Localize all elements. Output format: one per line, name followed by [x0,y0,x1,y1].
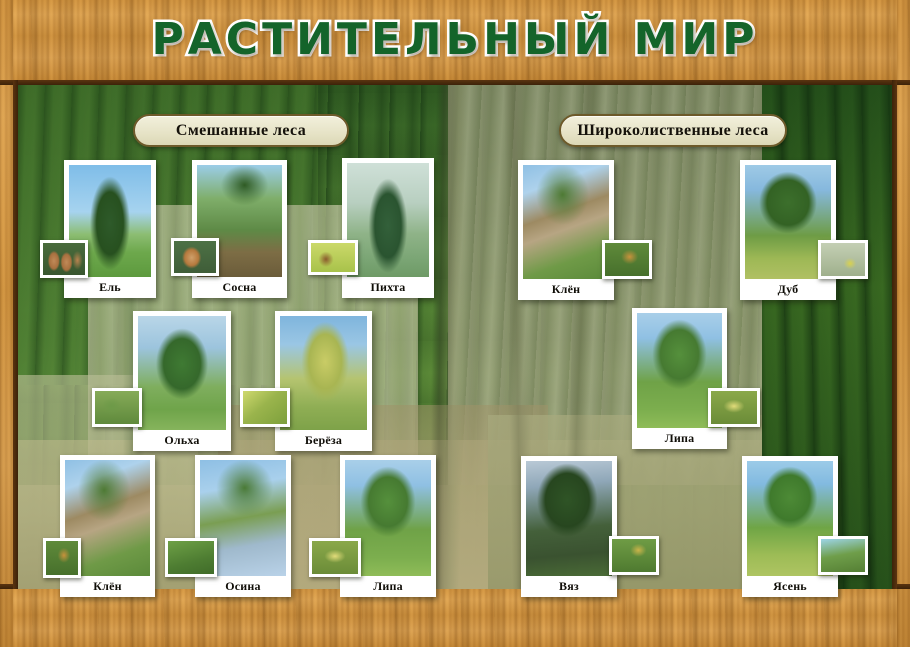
wood-frame-right [897,0,910,647]
leaf-icon [95,391,139,424]
tree-photo-olha [138,316,226,430]
tree-card-osina-label: Осина [200,576,286,597]
section-header-mixed-forest-label: Смешанные леса [176,122,306,140]
frame-edge-right [892,80,897,589]
leaf-icon [243,391,287,424]
detail-inset-yasen-leaf[interactable] [818,536,868,575]
cone-icon [174,241,216,273]
tree-card-olha[interactable]: Ольха [133,311,231,451]
tree-card-sosna[interactable]: Сосна [192,160,287,298]
cone-icon [311,243,355,272]
leaf-icon [821,539,865,572]
leaf-icon [821,243,865,276]
tree-card-klen-broad[interactable]: Клён [518,160,614,300]
section-header-broadleaf-forest: Широколиственные леса [559,114,787,147]
cone-icon [43,243,85,275]
detail-inset-lipa-mixed-leaf[interactable] [309,538,361,577]
tree-card-dub-label: Дуб [745,279,831,300]
leaf-icon [312,541,358,574]
tree-photo-vyaz [526,461,612,576]
page-title: РАСТИТЕЛЬНЫЙ МИР [0,8,910,72]
leaf-icon [605,243,649,276]
detail-inset-bereza-leaf[interactable] [240,388,290,427]
detail-inset-klen-broad-leaf[interactable] [602,240,652,279]
detail-inset-el-cones[interactable] [40,240,88,278]
section-header-broadleaf-forest-label: Широколиственные леса [577,122,768,140]
tree-card-olha-label: Ольха [138,430,226,451]
tree-card-bereza-label: Берёза [280,430,367,451]
leaf-icon [46,541,78,575]
detail-inset-klen-mixed-leaf[interactable] [43,538,81,578]
tree-card-pihta-label: Пихта [347,277,429,298]
tree-photo-klen-broad [523,165,609,279]
detail-inset-vyaz-leaf[interactable] [609,536,659,575]
leaf-icon [711,391,757,424]
tree-card-yasen-label: Ясень [747,576,833,597]
leaf-icon [612,539,656,572]
tree-card-vyaz[interactable]: Вяз [521,456,617,597]
detail-inset-pihta-cone[interactable] [308,240,358,275]
tree-card-klen-mixed-label: Клён [65,576,150,597]
detail-inset-dub-leaf[interactable] [818,240,868,279]
tree-photo-pihta [347,163,429,277]
poster: РАСТИТЕЛЬНЫЙ МИР Смешанные леса Широколи… [0,0,910,647]
wood-frame-left [0,0,13,647]
tree-card-klen-broad-label: Клён [523,279,609,300]
tree-card-sosna-label: Сосна [197,277,282,298]
tree-card-dub[interactable]: Дуб [740,160,836,300]
wood-frame-bottom [0,589,910,647]
tree-photo-bereza [280,316,367,430]
leaf-icon [168,541,214,574]
tree-card-vyaz-label: Вяз [526,576,612,597]
section-header-mixed-forest: Смешанные леса [133,114,349,147]
tree-card-bereza[interactable]: Берёза [275,311,372,451]
detail-inset-osina-leaf[interactable] [165,538,217,577]
tree-card-lipa-broad[interactable]: Липа [632,308,727,449]
detail-inset-olha-leaf[interactable] [92,388,142,427]
detail-inset-sosna-cone[interactable] [171,238,219,276]
tree-card-lipa-mixed-label: Липа [345,576,431,597]
tree-card-lipa-broad-label: Липа [637,428,722,449]
tree-card-pihta[interactable]: Пихта [342,158,434,298]
tree-card-yasen[interactable]: Ясень [742,456,838,597]
tree-card-el-label: Ель [69,277,151,298]
detail-inset-lipa-broad-leaf[interactable] [708,388,760,427]
